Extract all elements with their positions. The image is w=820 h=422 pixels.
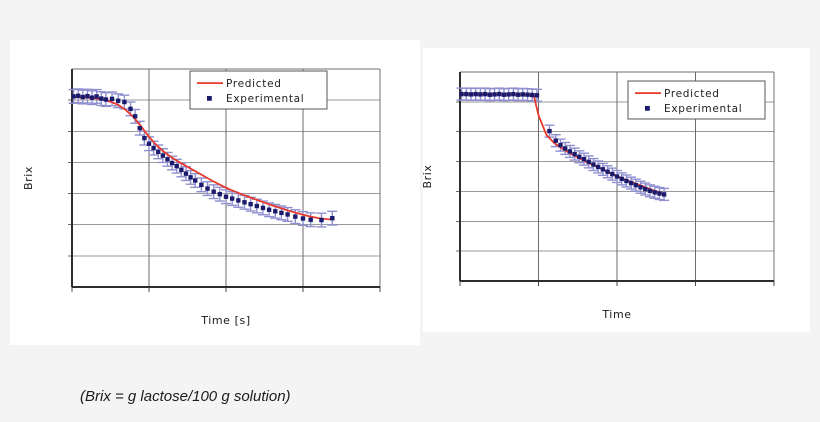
experimental-marker [122,100,126,104]
experimental-marker [610,172,614,176]
experimental-marker [521,92,525,96]
y-axis-label: Brix [423,164,434,188]
experimental-marker [161,153,165,157]
experimental-marker [530,93,534,97]
experimental-marker [267,208,271,212]
experimental-marker [175,164,179,168]
legend-label-predicted: Predicted [664,88,720,100]
experimental-marker [330,216,334,220]
experimental-marker [464,92,468,96]
experimental-marker [279,211,283,215]
experimental-marker [116,99,120,103]
experimental-marker [511,92,515,96]
plot-area: PredictedExperimental [68,69,380,292]
experimental-marker [94,94,98,98]
legend-label-experimental: Experimental [664,103,742,115]
experimental-marker [151,146,155,150]
experimental-marker [211,190,215,194]
experimental-marker [261,206,265,210]
experimental-marker [662,192,666,196]
chart-legend: PredictedExperimental [190,71,327,109]
experimental-marker [516,92,520,96]
experimental-marker [293,214,297,218]
legend-experimental-swatch [207,96,212,101]
experimental-marker [478,92,482,96]
experimental-marker [657,191,661,195]
experimental-marker [506,92,510,96]
chart-right-svg: PredictedExperimentalTimeBrix [423,48,810,332]
experimental-marker [459,92,463,96]
experimental-marker [483,92,487,96]
experimental-marker [643,187,647,191]
experimental-marker [76,94,80,98]
experimental-marker [620,177,624,181]
y-axis-label: Brix [22,166,35,190]
experimental-marker [110,97,114,101]
experimental-marker [242,200,246,204]
experimental-marker [582,157,586,161]
chart-panel-right: PredictedExperimentalTimeBrix [423,48,810,332]
chart-legend: PredictedExperimental [628,81,765,119]
experimental-marker [554,138,558,142]
experimental-marker [179,168,183,172]
experimental-marker [535,93,539,97]
experimental-marker [285,212,289,216]
experimental-marker [497,92,501,96]
experimental-marker [596,165,600,169]
experimental-marker [648,189,652,193]
experimental-marker [558,143,562,147]
experimental-marker [638,185,642,189]
experimental-marker [218,192,222,196]
experimental-marker [188,175,192,179]
experimental-marker [170,161,174,165]
experimental-marker [502,92,506,96]
experimental-marker [85,94,89,98]
experimental-marker [236,198,240,202]
experimental-marker [71,94,75,98]
experimental-marker [224,194,228,198]
chart-left-svg: PredictedExperimentalTime [s]Brix [10,40,420,345]
experimental-marker [563,146,567,150]
experimental-marker [469,92,473,96]
experimental-marker [577,155,581,159]
experimental-marker [133,114,137,118]
experimental-marker [156,150,160,154]
experimental-marker [587,160,591,164]
experimental-marker [601,167,605,171]
experimental-marker [525,92,529,96]
experimental-marker [199,183,203,187]
experimental-marker [301,216,305,220]
plot-area: PredictedExperimental [456,72,774,286]
x-axis-label: Time [601,308,631,321]
chart-left: PredictedExperimentalTime [s]Brix [10,40,420,345]
experimental-marker [309,218,313,222]
experimental-marker [99,96,103,100]
experimental-marker [492,92,496,96]
experimental-marker [624,179,628,183]
chart-right: PredictedExperimentalTimeBrix [423,48,810,332]
experimental-marker [90,95,94,99]
experimental-marker [147,142,151,146]
experimental-marker [605,170,609,174]
experimental-marker [319,218,323,222]
experimental-marker [184,171,188,175]
experimental-marker [165,157,169,161]
experimental-marker [273,209,277,213]
experimental-marker [193,178,197,182]
legend-label-predicted: Predicted [226,78,282,90]
experimental-marker [255,204,259,208]
experimental-marker [142,136,146,140]
x-axis-label: Time [s] [200,314,251,327]
experimental-marker [488,92,492,96]
experimental-marker [615,174,619,178]
experimental-marker [652,190,656,194]
experimental-marker [248,202,252,206]
experimental-marker [634,183,638,187]
experimental-marker [547,129,551,133]
experimental-marker [128,107,132,111]
experimental-marker [81,95,85,99]
experimental-marker [474,92,478,96]
experimental-marker [230,196,234,200]
legend-label-experimental: Experimental [226,93,304,105]
experimental-marker [568,149,572,153]
legend-experimental-swatch [645,106,650,111]
experimental-marker [104,97,108,101]
chart-panel-left: PredictedExperimentalTime [s]Brix [10,40,420,345]
experimental-marker [591,162,595,166]
experimental-marker [629,181,633,185]
experimental-marker [205,186,209,190]
experimental-marker [572,152,576,156]
figure-caption: (Brix = g lactose/100 g solution) [80,388,291,405]
experimental-marker [138,126,142,130]
